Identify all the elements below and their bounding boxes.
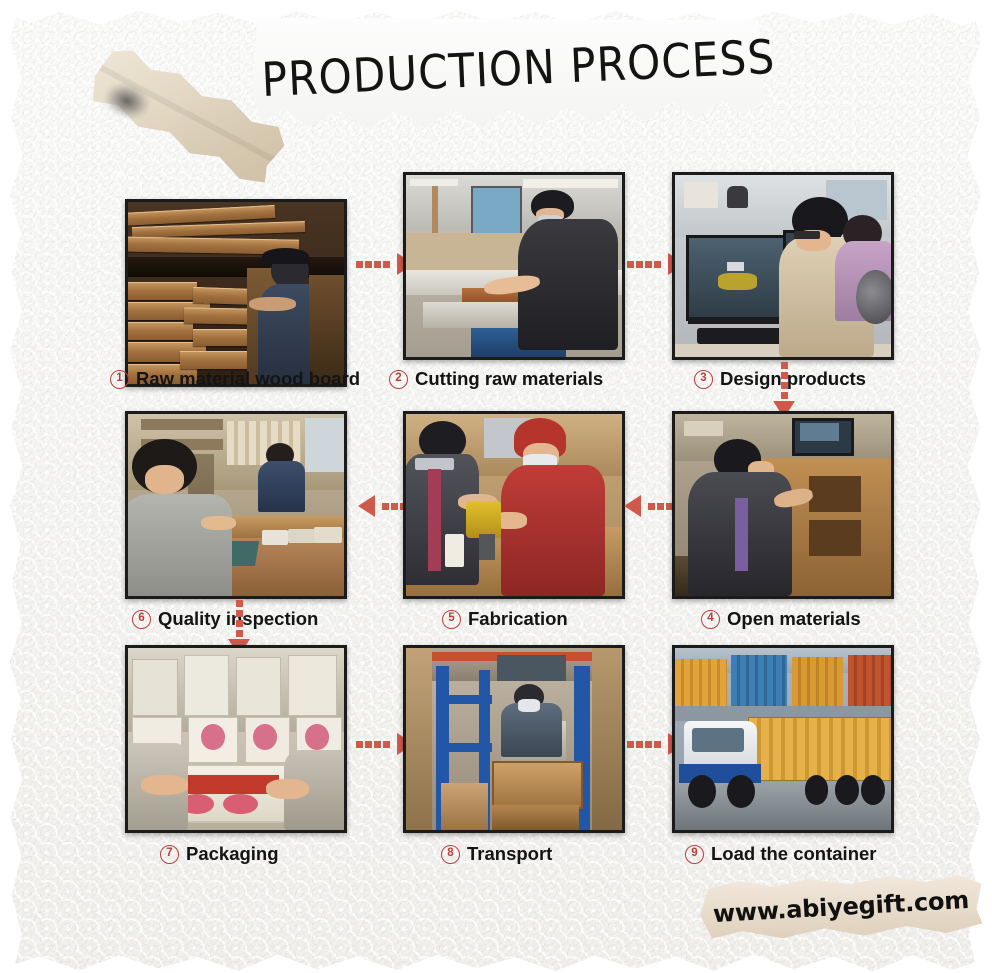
- step-number-2: 2: [389, 370, 408, 389]
- step-card-9[interactable]: [672, 645, 894, 833]
- photo-truck-yard: [675, 648, 891, 830]
- step-label-9: Load the container: [711, 843, 877, 865]
- photo-cad-desk: [675, 175, 891, 357]
- step-number-1: 1: [110, 370, 129, 389]
- step-card-2[interactable]: [403, 172, 625, 360]
- step-number-9: 9: [685, 845, 704, 864]
- step-label-1: Raw material wood board: [136, 368, 360, 390]
- step-number-6: 6: [132, 610, 151, 629]
- step-card-6[interactable]: [125, 411, 347, 599]
- photo-saw-machine: [406, 175, 622, 357]
- step-caption-3: 3 Design products: [694, 365, 992, 393]
- step-caption-7: 7 Packaging: [160, 840, 460, 868]
- photo-inspect-bench: [128, 414, 344, 596]
- step-label-7: Packaging: [186, 843, 279, 865]
- step-number-7: 7: [160, 845, 179, 864]
- photo-assembly: [406, 414, 622, 596]
- photo-panel-cut: [675, 414, 891, 596]
- step-number-5: 5: [442, 610, 461, 629]
- step-label-4: Open materials: [727, 608, 861, 630]
- photo-lumber-stack: [128, 202, 344, 384]
- step-card-7[interactable]: [125, 645, 347, 833]
- step-card-5[interactable]: [403, 411, 625, 599]
- step-caption-6: 6 Quality inspection: [132, 605, 432, 633]
- step-card-1[interactable]: [125, 199, 347, 387]
- arrow-step-3-to-4: [773, 362, 795, 418]
- step-number-4: 4: [701, 610, 720, 629]
- photo-boxing: [128, 648, 344, 830]
- step-card-3[interactable]: [672, 172, 894, 360]
- step-caption-2: 2 Cutting raw materials: [389, 365, 689, 393]
- step-label-2: Cutting raw materials: [415, 368, 603, 390]
- step-number-8: 8: [441, 845, 460, 864]
- photo-warehouse: [406, 648, 622, 830]
- step-number-3: 3: [694, 370, 713, 389]
- step-caption-9: 9 Load the container: [685, 840, 985, 868]
- step-label-5: Fabrication: [468, 608, 568, 630]
- step-card-8[interactable]: [403, 645, 625, 833]
- step-caption-5: 5 Fabrication: [442, 605, 742, 633]
- step-caption-1: 1 Raw material wood board: [110, 365, 410, 393]
- step-label-8: Transport: [467, 843, 552, 865]
- step-card-4[interactable]: [672, 411, 894, 599]
- step-caption-4: 4 Open materials: [701, 605, 992, 633]
